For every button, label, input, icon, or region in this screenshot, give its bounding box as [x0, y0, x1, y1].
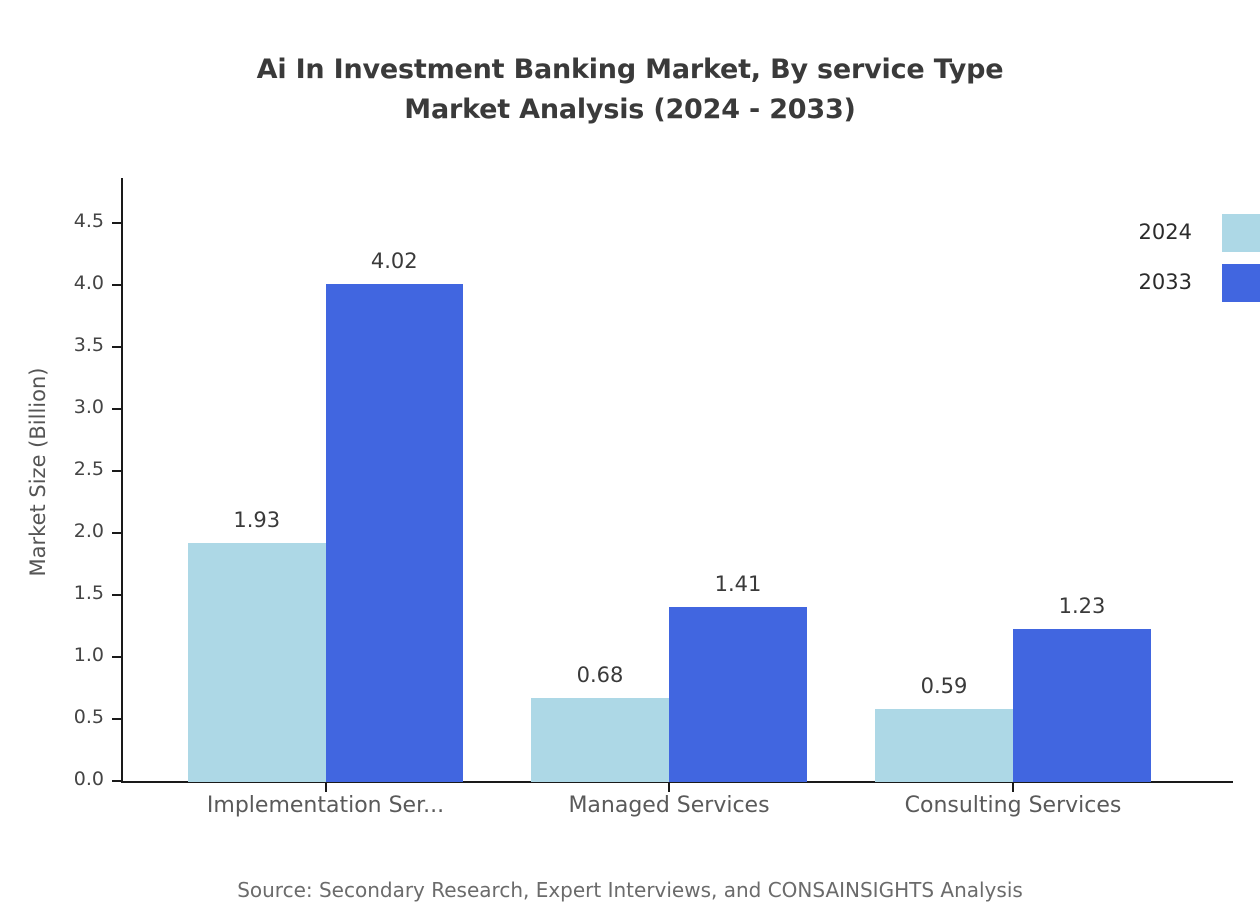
legend-swatch-2033 [1222, 264, 1260, 302]
legend-item-2033[interactable]: 2033 [1100, 264, 1260, 302]
plot-area [122, 178, 1233, 782]
y-tick-mark [112, 594, 121, 596]
x-tick-mark [1012, 783, 1014, 792]
legend[interactable]: 2024 2033 [1100, 214, 1260, 306]
bar-value-label: 0.59 [875, 674, 1013, 698]
x-category-label: Implementation Ser... [126, 793, 526, 818]
y-tick-mark [112, 222, 121, 224]
y-tick-label: 0.0 [44, 768, 104, 790]
bar-2033-2[interactable] [1013, 629, 1151, 782]
source-note: Source: Secondary Research, Expert Inter… [0, 878, 1260, 902]
y-tick-label: 2.5 [44, 458, 104, 480]
bar-2033-1[interactable] [669, 607, 807, 782]
y-tick-mark [112, 470, 121, 472]
bar-chart: Ai In Investment Banking Market, By serv… [0, 0, 1260, 920]
legend-item-2024[interactable]: 2024 [1100, 214, 1260, 252]
bar-value-label: 1.23 [1013, 594, 1151, 618]
legend-label-2024: 2024 [1139, 220, 1192, 244]
x-tick-mark [668, 783, 670, 792]
y-tick-mark [112, 656, 121, 658]
y-tick-label: 1.5 [44, 582, 104, 604]
y-tick-mark [112, 780, 121, 782]
chart-title: Ai In Investment Banking Market, By serv… [0, 50, 1260, 130]
bar-2024-1[interactable] [531, 698, 669, 782]
bar-value-label: 4.02 [326, 249, 464, 273]
y-tick-label: 3.0 [44, 396, 104, 418]
y-tick-label: 0.5 [44, 706, 104, 728]
x-tick-mark [325, 783, 327, 792]
bar-value-label: 0.68 [531, 663, 669, 687]
x-category-label: Consulting Services [813, 793, 1213, 818]
legend-swatch-2024 [1222, 214, 1260, 252]
y-tick-label: 2.0 [44, 520, 104, 542]
chart-title-line-2: Market Analysis (2024 - 2033) [0, 90, 1260, 130]
bar-value-label: 1.41 [669, 572, 807, 596]
y-tick-mark [112, 346, 121, 348]
legend-label-2033: 2033 [1139, 270, 1192, 294]
bar-2024-0[interactable] [188, 543, 326, 782]
y-tick-label: 4.5 [44, 210, 104, 232]
bar-value-label: 1.93 [188, 508, 326, 532]
y-tick-label: 1.0 [44, 644, 104, 666]
y-tick-label: 3.5 [44, 334, 104, 356]
y-tick-mark [112, 408, 121, 410]
x-category-label: Managed Services [469, 793, 869, 818]
y-tick-mark [112, 718, 121, 720]
y-tick-mark [112, 284, 121, 286]
chart-title-line-1: Ai In Investment Banking Market, By serv… [0, 50, 1260, 90]
y-tick-mark [112, 532, 121, 534]
y-tick-label: 4.0 [44, 272, 104, 294]
bar-2024-2[interactable] [875, 709, 1013, 782]
bar-2033-0[interactable] [326, 284, 464, 782]
